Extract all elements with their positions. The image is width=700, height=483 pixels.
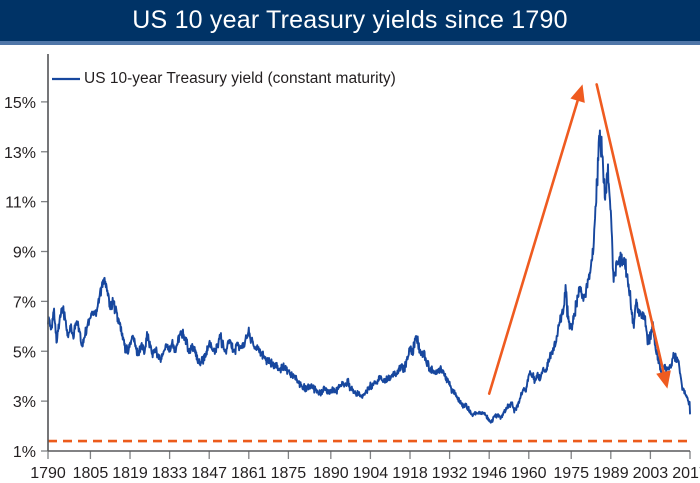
x-axis-ticks: 1790180518191833184718611875189019041918… [30, 451, 700, 482]
legend-label: US 10-year Treasury yield (constant matu… [84, 70, 396, 87]
x-tick-label-1975: 1975 [553, 465, 589, 482]
x-tick-label-1989: 1989 [593, 465, 629, 482]
series-group [48, 130, 690, 422]
chart-plot-area: 1%3%5%7%9%11%13%15% 17901805181918331847… [0, 49, 700, 483]
annotation-arrows [489, 84, 671, 393]
series-line-0 [48, 130, 690, 422]
x-tick-label-1847: 1847 [191, 465, 227, 482]
y-tick-label-11: 11% [5, 195, 36, 212]
x-tick-label-1819: 1819 [112, 465, 148, 482]
y-axis-ticks: 1%3%5%7%9%11%13%15% [4, 95, 48, 461]
x-tick-label-1904: 1904 [353, 465, 389, 482]
rising-yields-arrow-head [570, 84, 584, 102]
x-tick-label-2017: 2017 [672, 465, 700, 482]
x-tick-label-1790: 1790 [30, 465, 66, 482]
x-tick-label-1833: 1833 [152, 465, 188, 482]
x-tick-label-1890: 1890 [313, 465, 349, 482]
chart-legend: US 10-year Treasury yield (constant matu… [52, 70, 396, 87]
chart-screenshot: US 10 year Treasury yields since 1790 1%… [0, 0, 700, 483]
y-tick-label-5: 5% [13, 344, 36, 361]
x-tick-label-1875: 1875 [271, 465, 307, 482]
x-tick-label-1805: 1805 [73, 465, 109, 482]
x-tick-label-1932: 1932 [432, 465, 468, 482]
y-tick-label-15: 15% [4, 95, 36, 112]
falling-yields-arrow [597, 84, 664, 372]
y-tick-label-1: 1% [13, 444, 36, 461]
title-bar: US 10 year Treasury yields since 1790 [0, 0, 700, 45]
treasury-yield-line-chart: 1%3%5%7%9%11%13%15% 17901805181918331847… [0, 49, 700, 483]
x-tick-label-1918: 1918 [392, 465, 428, 482]
x-tick-label-1946: 1946 [471, 465, 507, 482]
x-tick-label-2003: 2003 [633, 465, 669, 482]
y-tick-label-9: 9% [13, 245, 36, 262]
y-tick-label-13: 13% [4, 145, 36, 162]
y-tick-label-3: 3% [13, 394, 36, 411]
y-tick-label-7: 7% [13, 294, 36, 311]
falling-yields-arrow-head [656, 370, 671, 388]
x-tick-label-1861: 1861 [231, 465, 267, 482]
rising-yields-arrow [489, 101, 577, 394]
page-title: US 10 year Treasury yields since 1790 [0, 0, 700, 41]
x-tick-label-1960: 1960 [511, 465, 547, 482]
